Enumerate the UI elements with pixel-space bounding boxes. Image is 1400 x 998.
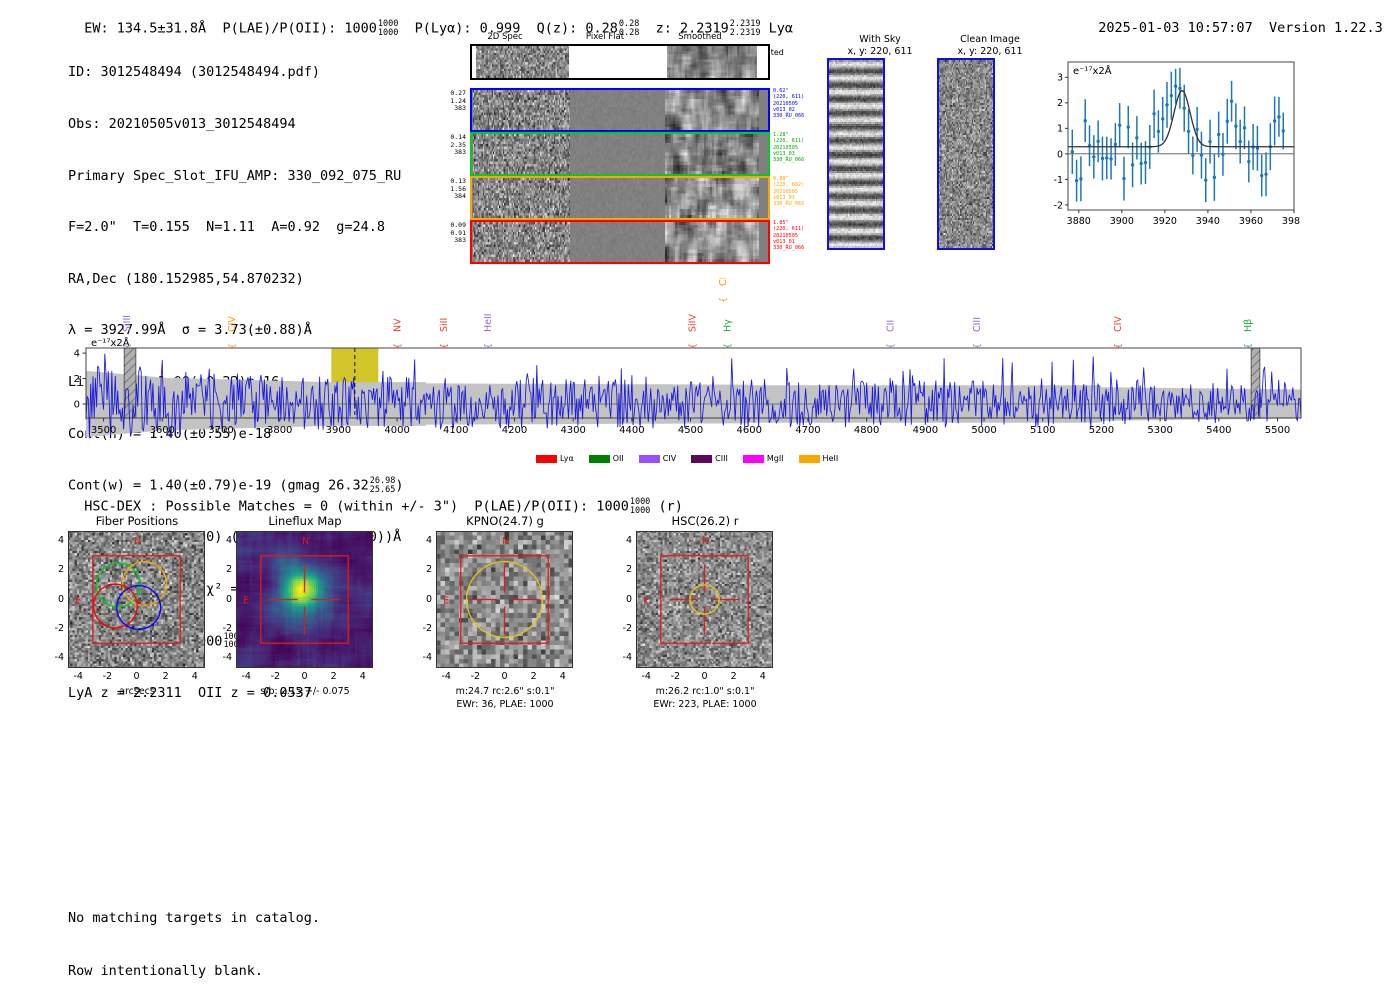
- spectrum-xtick: 4000: [384, 425, 409, 436]
- cutout-title-3: KPNO(24.7) g: [420, 514, 590, 528]
- spectrum-xtick: 4200: [502, 425, 527, 436]
- cutout-xtick: -2: [98, 671, 116, 682]
- emission-line-flag-heii-4: {HeII: [483, 313, 494, 348]
- cutout-ytick: 2: [614, 564, 632, 575]
- cutout-ytick: 2: [214, 564, 232, 575]
- svg-text:{: {: [484, 343, 494, 349]
- cutout-xtick: -4: [437, 671, 455, 682]
- svg-text:CIII: CIII: [718, 278, 729, 286]
- emission-line-flag-cii-8: {CII: [886, 320, 897, 349]
- spectrum-xtick: 4900: [913, 425, 938, 436]
- svg-text:{: {: [887, 343, 897, 349]
- legend-label-oii: OII: [613, 454, 624, 463]
- svg-text:{: {: [394, 343, 404, 349]
- full-spectrum-plot: e⁻¹⁷x2Å350036003700380039004000410042004…: [0, 278, 1400, 448]
- svg-text:{: {: [228, 343, 238, 349]
- svg-text:3900: 3900: [1110, 216, 1134, 227]
- svg-text:{: {: [1114, 343, 1124, 349]
- image-tile: [939, 60, 993, 248]
- svg-text:SiIV: SiIV: [687, 314, 698, 332]
- cutout-ytick: 4: [614, 535, 632, 546]
- cutout-xtick: 0: [496, 671, 514, 682]
- legend-swatch-ciii: [691, 455, 712, 463]
- hsc-dex-text: HSC-DEX : Possible Matches = 0 (within +…: [84, 499, 629, 515]
- legend-label-ciii: CIII: [715, 454, 728, 463]
- legend-label-lyα: Lyα: [560, 454, 574, 463]
- with-sky-title: With Skyx, y: 220, 611: [820, 34, 940, 58]
- spec2d-title-pixelflat: Pixel Flat: [560, 32, 650, 42]
- fiber-row-3-stats: 0.131.56384: [438, 178, 466, 201]
- footer-line-2: Row intentionally blank.: [68, 963, 320, 981]
- cutout-ytick: 2: [46, 564, 64, 575]
- hsc-dex-match-line: HSC-DEX : Possible Matches = 0 (within +…: [68, 482, 683, 515]
- cutout-xtick: -4: [237, 671, 255, 682]
- cutout-xtick: 4: [754, 671, 772, 682]
- image-tile: [665, 90, 759, 130]
- full-spectrum-svg: e⁻¹⁷x2Å350036003700380039004000410042004…: [0, 278, 1400, 448]
- cutout-ytick: 4: [214, 535, 232, 546]
- cutout-xtick: 0: [128, 671, 146, 682]
- svg-text:HeII: HeII: [483, 313, 494, 332]
- cutout-ytick: -2: [46, 623, 64, 634]
- legend-swatch-mgii: [743, 455, 764, 463]
- svg-text:3960: 3960: [1239, 216, 1263, 227]
- svg-text:NV: NV: [393, 318, 404, 332]
- image-tile: [473, 178, 570, 218]
- emission-line-flag-siiii-0: {SiIII: [122, 315, 133, 349]
- info-seeing-params: F=2.0" T=0.155 N=1.11 A=0.92 g=24.8: [68, 219, 403, 236]
- fiber-row-4-stats: 0.090.91383: [438, 222, 466, 245]
- svg-text:1: 1: [1057, 124, 1063, 135]
- fiber-row-2-stats: 0.142.35383: [438, 134, 466, 157]
- line-fit-svg: 388039003920394039603980-2-10123e⁻¹⁷x2Å: [1038, 56, 1300, 236]
- legend-swatch-civ: [639, 455, 660, 463]
- spectrum-xtick: 5100: [1030, 425, 1055, 436]
- emission-line-flag-ciii-6: {CIII: [718, 278, 729, 303]
- cutout-xtick: 4: [186, 671, 204, 682]
- cutout-xtick: -2: [466, 671, 484, 682]
- svg-text:{: {: [440, 343, 450, 349]
- legend-swatch-oii: [589, 455, 610, 463]
- svg-text:Hγ: Hγ: [722, 319, 733, 332]
- fiber-row-3-meta: 0.88"(220, 602)20210505v013_01330_RU_065: [773, 176, 813, 207]
- image-tile: [473, 222, 570, 262]
- emission-line-flag-siii-3: {SiII: [439, 318, 450, 349]
- fit-plot-unit-label: e⁻¹⁷x2Å: [1073, 64, 1112, 77]
- cutout-frame-4: [636, 531, 773, 668]
- cutout-ytick: -4: [614, 652, 632, 663]
- image-tile: [665, 178, 759, 218]
- cutout-ytick: 0: [46, 594, 64, 605]
- svg-text:SiIII: SiIII: [122, 315, 133, 332]
- svg-text:CII: CII: [886, 320, 897, 332]
- spectrum-xtick: 3700: [208, 425, 233, 436]
- image-tile: [473, 134, 570, 174]
- svg-text:{: {: [719, 297, 729, 303]
- clean-image-title: Clean Imagex, y: 220, 611: [930, 34, 1050, 58]
- svg-text:{: {: [973, 343, 983, 349]
- timestamp: 2025-01-03 10:57:07: [1098, 20, 1252, 36]
- image-tile: [573, 222, 661, 262]
- cutout-footer-2-4: EWr: 223, PLAE: 1000: [610, 699, 800, 712]
- image-tile: [573, 134, 661, 174]
- svg-text:CIII: CIII: [972, 317, 983, 332]
- emission-line-flag-ciii-9: {CIII: [972, 317, 983, 349]
- fiber-row-1-stats: 0.271.24383: [438, 90, 466, 113]
- line-fit-plot: 388039003920394039603980-2-10123e⁻¹⁷x2Å: [1038, 56, 1300, 236]
- fiber-row-4-meta: 1.85"(220, 611)20210505v013_01330_RU_066: [773, 220, 813, 251]
- cutout-ytick: -2: [214, 623, 232, 634]
- cutout-footer-1-4: m:26.2 rc:1.0" s:0.1": [610, 686, 800, 699]
- spectrum-xtick: 4700: [795, 425, 820, 436]
- svg-text:3980: 3980: [1282, 216, 1300, 227]
- footer-line-1: No matching targets in catalog.: [68, 910, 320, 928]
- spectrum-xtick: 3600: [150, 425, 175, 436]
- emission-line-flag-nv-2: {NV: [393, 318, 404, 349]
- cutout-ytick: 4: [414, 535, 432, 546]
- cutout-ytick: 4: [46, 535, 64, 546]
- cutout-footer-2-3: EWr: 36, PLAE: 1000: [410, 699, 600, 712]
- spectrum-xtick: 3800: [267, 425, 292, 436]
- cutout-ytick: -4: [414, 652, 432, 663]
- fiber-row-1-meta: 0.62"(220, 611)20210505v013_02330_RU_066: [773, 88, 813, 119]
- image-tile: [573, 178, 661, 218]
- cutout-xtick: -2: [266, 671, 284, 682]
- svg-text:{: {: [1244, 343, 1254, 349]
- legend-swatch-heii: [799, 455, 820, 463]
- info-id: ID: 3012548494 (3012548494.pdf): [68, 64, 403, 81]
- two-d-spectrum-panel: 2D Spec Pixel Flat Smoothed Weighted Sum…: [440, 30, 780, 260]
- cutout-ytick: -2: [614, 623, 632, 634]
- spectrum-xtick: 5000: [971, 425, 996, 436]
- svg-text:3: 3: [1057, 73, 1063, 84]
- masked-region-1: [124, 348, 136, 418]
- spectrum-xtick: 4500: [678, 425, 703, 436]
- cutout-ytick: -2: [414, 623, 432, 634]
- spectrum-xtick: 5300: [1147, 425, 1172, 436]
- cutout-xtick: 0: [296, 671, 314, 682]
- legend-label-heii: HeII: [823, 454, 839, 463]
- header-timestamp-block: 2025-01-03 10:57:07 Version 1.22.3: [1082, 4, 1383, 36]
- cutout-ytick: 0: [214, 594, 232, 605]
- spectrum-ytick: 0: [74, 400, 80, 411]
- cutout-xtick: -4: [69, 671, 87, 682]
- image-tile: [665, 222, 759, 262]
- emission-line-flag-siiv-5: {SiIV: [687, 314, 698, 349]
- spectrum-xtick: 4800: [854, 425, 879, 436]
- cutout-footer-1-1: arcsecs: [42, 686, 232, 699]
- info-obs: Obs: 20210505v013_3012548494: [68, 116, 403, 133]
- version-label: Version 1.22.3: [1269, 20, 1383, 36]
- svg-text:0: 0: [1057, 149, 1063, 160]
- cutout-xtick: 4: [554, 671, 572, 682]
- emission-line-flag-civ-10: {CIV: [1113, 316, 1124, 349]
- svg-text:{: {: [723, 343, 733, 349]
- cutout-ytick: 0: [614, 594, 632, 605]
- spec2d-title-2dspec: 2D Spec: [460, 32, 550, 42]
- spectrum-xtick: 4400: [619, 425, 644, 436]
- info-primary-spec-slot: Primary Spec_Slot_IFU_AMP: 330_092_075_R…: [68, 168, 403, 185]
- svg-text:Hβ: Hβ: [1243, 319, 1254, 332]
- spectrum-xtick: 4600: [737, 425, 762, 436]
- emission-line-flag-hβ-11: {Hβ: [1243, 319, 1254, 349]
- svg-text:3880: 3880: [1067, 216, 1091, 227]
- fiber-row-2-meta: 1.28"(220, 611)20210505v013_03330_RU_066: [773, 132, 813, 163]
- spectrum-xtick: 3500: [91, 425, 116, 436]
- svg-text:3940: 3940: [1196, 216, 1220, 227]
- cutout-xtick: 2: [725, 671, 743, 682]
- cutout-frame-3: [436, 531, 573, 668]
- hsc-dex-filter: (r): [658, 499, 682, 515]
- cutout-frame-2: [236, 531, 373, 668]
- svg-text:SiII: SiII: [439, 318, 450, 332]
- emission-line-legend: LyαOIICIVCIIIMgIIHeII: [536, 454, 853, 463]
- svg-text:CIV: CIV: [227, 316, 238, 332]
- image-tile: [573, 90, 661, 130]
- spectrum-ytick: 4: [74, 349, 80, 360]
- image-tile: [829, 60, 883, 248]
- image-tile: [476, 46, 569, 78]
- footer-note: No matching targets in catalog. Row inte…: [68, 875, 320, 998]
- legend-label-civ: CIV: [663, 454, 676, 463]
- svg-text:CIV: CIV: [1113, 316, 1124, 332]
- spec2d-title-smoothed: Smoothed: [655, 32, 745, 42]
- spectrum-xtick: 5200: [1089, 425, 1114, 436]
- cutout-xtick: 0: [696, 671, 714, 682]
- spectrum-ytick: 2: [74, 374, 80, 385]
- legend-label-mgii: MgII: [767, 454, 784, 463]
- cutout-frame-1: [68, 531, 205, 668]
- svg-text:3920: 3920: [1153, 216, 1177, 227]
- cutout-title-1: Fiber Positions: [52, 514, 222, 528]
- spectrum-xtick: 5500: [1265, 425, 1290, 436]
- cutout-title-2: Lineflux Map: [220, 514, 390, 528]
- image-tile: [667, 46, 757, 78]
- cutout-xtick: -2: [666, 671, 684, 682]
- cutout-ytick: 0: [414, 594, 432, 605]
- svg-text:-2: -2: [1054, 200, 1063, 211]
- cutout-xtick: -4: [637, 671, 655, 682]
- cutout-ytick: -4: [214, 652, 232, 663]
- spectrum-xtick: 5400: [1206, 425, 1231, 436]
- cutout-xtick: 2: [525, 671, 543, 682]
- cutout-xtick: 4: [354, 671, 372, 682]
- cutout-ytick: 2: [414, 564, 432, 575]
- svg-text:-1: -1: [1054, 175, 1063, 186]
- cutout-footer-1-3: m:24.7 rc:2.6" s:0.1": [410, 686, 600, 699]
- image-tile: [665, 134, 759, 174]
- spectrum-xtick: 4100: [443, 425, 468, 436]
- spectrum-xtick: 3900: [326, 425, 351, 436]
- cutout-xtick: 2: [325, 671, 343, 682]
- emission-line-flag-hγ-7: {Hγ: [722, 319, 733, 349]
- svg-text:2: 2: [1057, 98, 1063, 109]
- legend-swatch-lyα: [536, 455, 557, 463]
- svg-text:{: {: [688, 343, 698, 349]
- spectrum-xtick: 4300: [560, 425, 585, 436]
- cutout-title-4: HSC(26.2) r: [620, 514, 790, 528]
- image-tile: [473, 90, 570, 130]
- hsc-dex-frac: 10001000: [630, 498, 650, 515]
- cutout-footer-1-2: s/b: 2.15 +/- 0.075: [210, 686, 400, 699]
- cutout-ytick: -4: [46, 652, 64, 663]
- cutout-xtick: 2: [157, 671, 175, 682]
- svg-text:{: {: [123, 343, 133, 349]
- emission-line-flag-civ-1: {CIV: [227, 316, 238, 349]
